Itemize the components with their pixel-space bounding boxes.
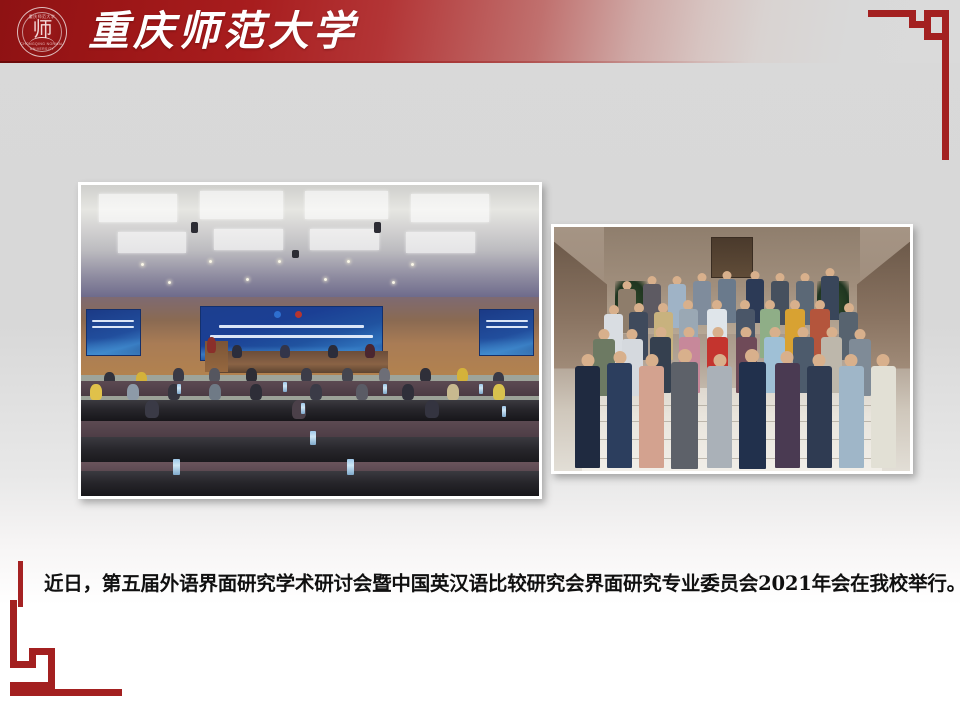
attendee xyxy=(209,384,221,400)
seat-row xyxy=(81,471,539,496)
attendee-head xyxy=(581,354,594,367)
caption-text: 近日，第五届外语界面研究学术研讨会暨中国英汉语比较研究会界面研究专业委员会202… xyxy=(44,556,950,612)
attendee-body xyxy=(807,366,832,468)
screen-glow xyxy=(480,338,533,355)
attendee-front-row xyxy=(739,349,766,456)
attendee-body xyxy=(671,362,698,469)
ceiling-panel xyxy=(200,191,282,219)
led-screen-left xyxy=(86,309,141,356)
attendee-front-row xyxy=(807,354,832,456)
caption-accent-bar xyxy=(18,561,23,607)
attendee-body xyxy=(839,366,864,468)
ceiling-speaker xyxy=(191,222,198,233)
speaker-at-podium xyxy=(207,337,216,353)
ceiling-panel xyxy=(118,232,187,254)
screen-line xyxy=(486,326,528,328)
ceiling-panel xyxy=(214,229,283,251)
ceiling-panel xyxy=(310,229,379,251)
conference-hall-photo xyxy=(78,182,542,499)
attendee-front-row xyxy=(871,354,896,456)
screen-line xyxy=(92,320,134,322)
water-bottle xyxy=(310,431,316,445)
university-name: 重庆师范大学 xyxy=(88,4,358,59)
ceiling-speaker xyxy=(374,222,381,233)
attendee-body xyxy=(871,366,896,468)
water-bottle xyxy=(301,403,305,414)
water-bottle xyxy=(479,384,483,394)
attendee-body xyxy=(775,363,800,468)
presentation-slide: 重庆师范大学 师 CHONGQING NORMAL UNIVERSITY 重庆师… xyxy=(0,0,960,720)
attendee-head xyxy=(645,354,658,367)
screen-emblem-right xyxy=(295,311,302,318)
attendee xyxy=(356,384,368,400)
attendee-front-row xyxy=(839,354,864,456)
ceiling-panel xyxy=(99,194,177,222)
water-bottle xyxy=(283,382,287,392)
attendee xyxy=(90,384,102,400)
attendee-front-row xyxy=(607,351,632,456)
ceiling-speaker xyxy=(292,250,299,258)
attendee-front-row xyxy=(707,354,732,456)
screen-line xyxy=(92,326,134,328)
attendee xyxy=(250,384,262,400)
ceiling-panel xyxy=(411,194,489,222)
attendee-body xyxy=(607,363,632,468)
attendee-front-row xyxy=(775,351,800,456)
screen-title-line-1 xyxy=(219,325,364,328)
university-seal-icon: 重庆师范大学 师 CHONGQING NORMAL UNIVERSITY xyxy=(17,7,67,57)
screen-emblem-left xyxy=(274,311,281,318)
panelist xyxy=(232,345,242,358)
attendee-head xyxy=(845,354,858,367)
ceiling-light xyxy=(347,260,350,263)
group-portrait-photo xyxy=(551,224,913,474)
water-bottle xyxy=(177,384,181,394)
attendee-body xyxy=(707,366,732,468)
attendee xyxy=(145,400,159,418)
screen-line xyxy=(486,320,528,322)
attendee-front-row xyxy=(575,354,600,456)
ceiling-panel xyxy=(406,232,475,254)
panelist xyxy=(365,344,375,358)
attendee xyxy=(425,400,439,418)
attendee xyxy=(310,384,322,400)
panelist xyxy=(280,345,290,358)
ornament-stem xyxy=(942,10,949,160)
attendee-front-row xyxy=(671,349,698,456)
caption-block: 近日，第五届外语界面研究学术研讨会暨中国英汉语比较研究会界面研究专业委员会202… xyxy=(0,556,960,612)
water-bottle xyxy=(502,406,506,417)
attendee-head xyxy=(877,354,890,367)
attendee xyxy=(127,384,139,400)
attendee-body xyxy=(739,362,766,469)
header-banner: 重庆师范大学 师 CHONGQING NORMAL UNIVERSITY 重庆师… xyxy=(0,0,960,63)
water-bottle xyxy=(383,384,387,394)
screen-title-line-2 xyxy=(210,335,373,338)
attendee-head xyxy=(713,354,726,367)
ceiling-light xyxy=(209,260,212,263)
water-bottle xyxy=(173,459,180,475)
led-screen-right xyxy=(479,309,534,356)
attendee-body xyxy=(575,366,600,468)
water-bottle xyxy=(347,459,354,475)
corner-ornament-top-right xyxy=(868,10,950,160)
seal-bottom-text: CHONGQING NORMAL UNIVERSITY xyxy=(18,42,66,52)
attendee-body xyxy=(639,366,664,468)
ceiling-light xyxy=(278,260,281,263)
ceiling-panel xyxy=(305,191,387,219)
attendee-front-row xyxy=(639,354,664,456)
ceiling-light xyxy=(411,263,414,266)
panelist xyxy=(328,345,338,358)
seal-glyph: 师 xyxy=(18,19,66,39)
attendee xyxy=(493,384,505,400)
attendee xyxy=(402,384,414,400)
corner-ornament-bottom-left xyxy=(10,600,122,696)
attendee xyxy=(447,384,459,400)
screen-glow xyxy=(87,338,140,355)
ceiling-light xyxy=(141,263,144,266)
attendee-head xyxy=(678,349,692,363)
ornament-bar xyxy=(10,689,122,696)
attendee-head xyxy=(745,349,759,363)
attendee-head xyxy=(813,354,826,367)
